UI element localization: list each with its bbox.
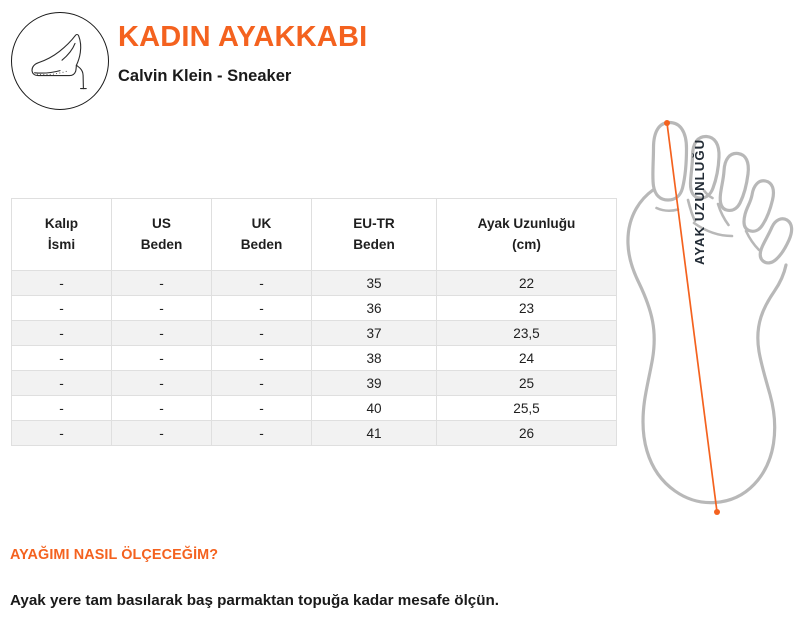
column-header-line1: US — [152, 216, 171, 231]
column-header-line1: UK — [252, 216, 272, 231]
column-header-line2: Beden — [314, 234, 434, 255]
table-row: ---3824 — [12, 346, 617, 371]
cell-kalip-ismi: - — [12, 271, 112, 296]
cell-kalip-ismi: - — [12, 296, 112, 321]
page-header: KADIN AYAKKABI Calvin Klein - Sneaker — [11, 12, 367, 110]
how-to-measure-heading: AYAĞIMI NASIL ÖLÇECEĞİM? — [10, 547, 218, 563]
cell-kalip-ismi: - — [12, 371, 112, 396]
column-header-eu-tr-beden: EU-TR Beden — [312, 199, 437, 271]
column-header-ayak-uzunlugu: Ayak Uzunluğu (cm) — [437, 199, 617, 271]
column-header-line2: Beden — [214, 234, 309, 255]
cell-eu-tr-beden: 36 — [312, 296, 437, 321]
cell-us-beden: - — [112, 396, 212, 421]
cell-us-beden: - — [112, 421, 212, 446]
cell-kalip-ismi: - — [12, 346, 112, 371]
column-header-line1: Ayak Uzunluğu — [478, 216, 576, 231]
cell-us-beden: - — [112, 271, 212, 296]
cell-kalip-ismi: - — [12, 421, 112, 446]
column-header-uk-beden: UK Beden — [212, 199, 312, 271]
header-text-block: KADIN AYAKKABI Calvin Klein - Sneaker — [118, 12, 367, 86]
column-header-us-beden: US Beden — [112, 199, 212, 271]
table-header-row: Kalıp İsmi US Beden UK Beden EU-TR Beden… — [12, 199, 617, 271]
cell-uk-beden: - — [212, 371, 312, 396]
table-row: ---3522 — [12, 271, 617, 296]
measurement-label: AYAK UZUNLUĞU — [692, 85, 707, 265]
column-header-kalip-ismi: Kalıp İsmi — [12, 199, 112, 271]
cell-eu-tr-beden: 41 — [312, 421, 437, 446]
cell-ayak-uzunlugu: 26 — [437, 421, 617, 446]
measurement-endpoint-toe — [664, 120, 670, 126]
cell-ayak-uzunlugu: 25 — [437, 371, 617, 396]
cell-us-beden: - — [112, 346, 212, 371]
size-conversion-table: Kalıp İsmi US Beden UK Beden EU-TR Beden… — [11, 198, 617, 446]
cell-ayak-uzunlugu: 24 — [437, 346, 617, 371]
table-row: ---4126 — [12, 421, 617, 446]
cell-uk-beden: - — [212, 296, 312, 321]
how-to-measure-text: Ayak yere tam basılarak baş parmaktan to… — [10, 592, 499, 609]
measurement-endpoint-heel — [714, 509, 720, 515]
cell-us-beden: - — [112, 296, 212, 321]
column-header-line2: (cm) — [439, 234, 614, 255]
cell-eu-tr-beden: 38 — [312, 346, 437, 371]
cell-eu-tr-beden: 40 — [312, 396, 437, 421]
cell-uk-beden: - — [212, 346, 312, 371]
cell-us-beden: - — [112, 321, 212, 346]
cell-uk-beden: - — [212, 396, 312, 421]
cell-ayak-uzunlugu: 23,5 — [437, 321, 617, 346]
high-heel-shoe-icon — [11, 12, 109, 110]
column-header-line2: İsmi — [14, 234, 109, 255]
column-header-line1: Kalıp — [45, 216, 78, 231]
cell-kalip-ismi: - — [12, 321, 112, 346]
cell-ayak-uzunlugu: 23 — [437, 296, 617, 321]
table-row: ---3925 — [12, 371, 617, 396]
table-row: ---3723,5 — [12, 321, 617, 346]
page-subtitle: Calvin Klein - Sneaker — [118, 67, 367, 86]
size-chart-page: KADIN AYAKKABI Calvin Klein - Sneaker Ka… — [0, 0, 800, 634]
table-body: ---3522---3623---3723,5---3824---3925---… — [12, 271, 617, 446]
cell-ayak-uzunlugu: 25,5 — [437, 396, 617, 421]
cell-uk-beden: - — [212, 421, 312, 446]
table-row: ---4025,5 — [12, 396, 617, 421]
cell-uk-beden: - — [212, 321, 312, 346]
cell-ayak-uzunlugu: 22 — [437, 271, 617, 296]
page-title: KADIN AYAKKABI — [118, 20, 367, 54]
cell-eu-tr-beden: 37 — [312, 321, 437, 346]
table-row: ---3623 — [12, 296, 617, 321]
cell-uk-beden: - — [212, 271, 312, 296]
cell-eu-tr-beden: 35 — [312, 271, 437, 296]
cell-eu-tr-beden: 39 — [312, 371, 437, 396]
cell-kalip-ismi: - — [12, 396, 112, 421]
column-header-line2: Beden — [114, 234, 209, 255]
cell-us-beden: - — [112, 371, 212, 396]
column-header-line1: EU-TR — [353, 216, 395, 231]
